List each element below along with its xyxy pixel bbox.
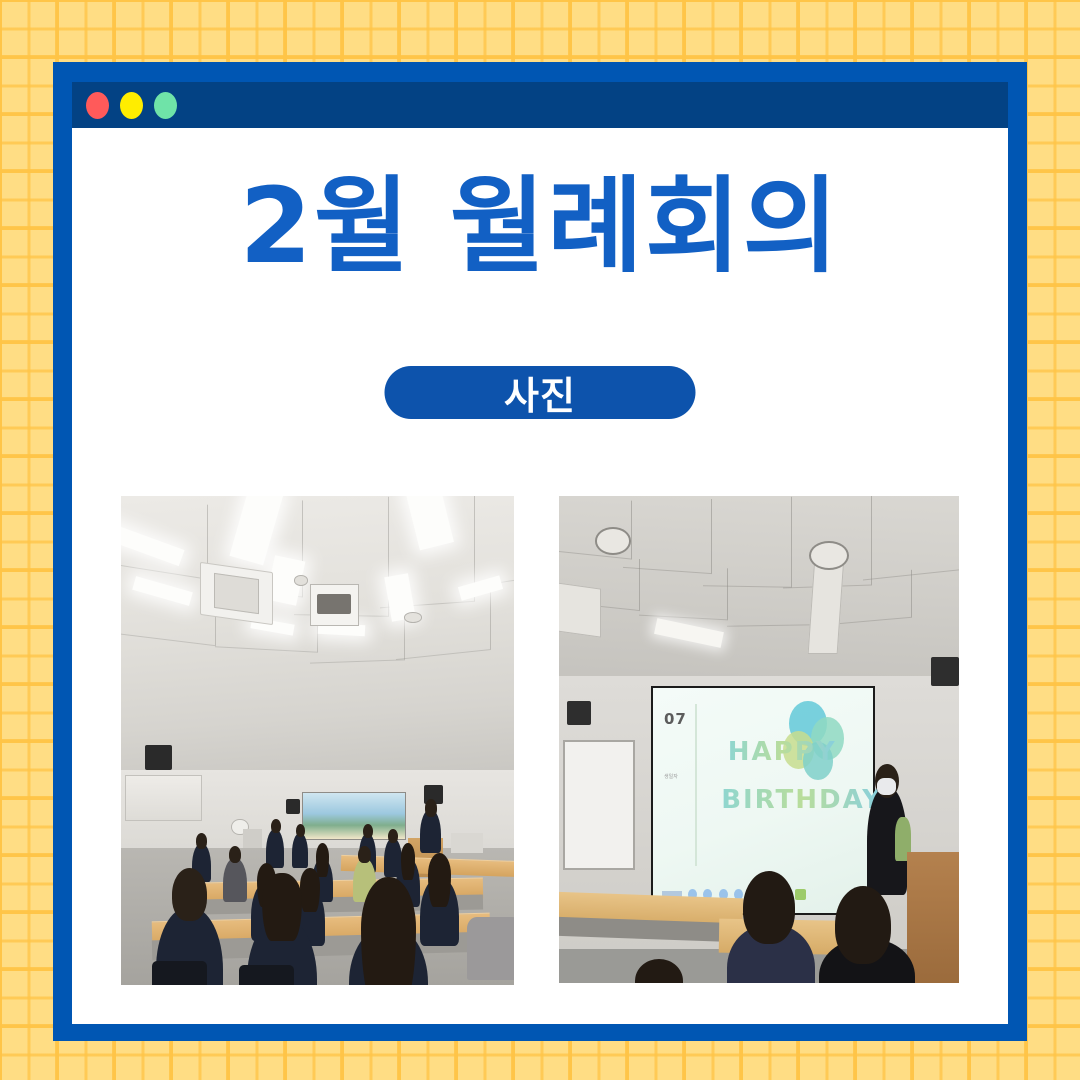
ceiling-tile: [727, 577, 816, 626]
slide-line-2: BIRTHDAY: [721, 785, 883, 815]
window-titlebar: [72, 82, 1008, 128]
ceiling: [559, 496, 959, 691]
attendee-head: [388, 829, 398, 844]
wall-speaker: [931, 657, 959, 686]
photo-happy-birthday-slide[interactable]: 07 생일자 HAPPY BIRTHDAY: [559, 496, 959, 983]
wall-speaker: [567, 701, 591, 725]
attendee-head: [262, 873, 301, 941]
attendee: [223, 858, 247, 902]
wooden-panel: [907, 852, 959, 983]
attendee-head: [172, 868, 207, 922]
ceiling-air-conditioner: [559, 579, 601, 637]
status-badge[interactable]: 사진: [385, 366, 696, 419]
ceiling-tile: [863, 496, 959, 580]
window-content: 2월 월례회의 사진: [72, 128, 1008, 1024]
whiteboard: [563, 740, 635, 871]
face-mask: [877, 778, 895, 795]
smoke-detector-icon: [294, 575, 308, 586]
maximize-button-icon[interactable]: [154, 92, 177, 119]
window-inner: 2월 월례회의 사진: [72, 82, 1008, 1024]
attendee-head: [296, 824, 305, 838]
smoke-detector-icon: [404, 612, 422, 623]
photo-gallery: 07 생일자 HAPPY BIRTHDAY: [72, 496, 1008, 985]
attendee-head: [316, 843, 329, 877]
photo-monthly-meeting-audience[interactable]: [121, 496, 514, 985]
window-blind: [125, 775, 202, 821]
slide-subtitle: 생일자: [664, 773, 678, 780]
wall-speaker: [286, 799, 300, 814]
ceiling-duct: [808, 558, 845, 654]
attendee-head: [361, 877, 416, 985]
ceiling-tile: [459, 496, 514, 590]
ceiling-dome-fixture: [595, 527, 631, 554]
slide-divider: [695, 704, 697, 866]
attendee-head: [300, 868, 320, 912]
attendee-head: [428, 853, 452, 907]
laptop: [451, 833, 482, 853]
attendee-head: [229, 846, 242, 864]
ceiling-air-conditioner: [200, 562, 273, 625]
coat-on-chair: [467, 917, 514, 981]
close-button-icon[interactable]: [86, 92, 109, 119]
ceiling-vent-icon: [809, 541, 849, 570]
ceiling: [121, 496, 514, 780]
attendee: [292, 833, 308, 867]
chair: [239, 965, 294, 985]
attendee-head: [743, 871, 795, 944]
attendee-head: [358, 846, 371, 864]
slide-number: 07: [664, 710, 687, 728]
ceiling-light: [654, 618, 724, 647]
attendee-head: [363, 824, 373, 839]
air-conditioner-vent: [213, 573, 258, 614]
projector-body: [317, 594, 351, 614]
ceiling-tile: [639, 564, 728, 620]
presenter-head: [425, 799, 437, 817]
browser-window-frame: 2월 월례회의 사진: [53, 62, 1027, 1041]
attendee-head: [196, 833, 207, 849]
slide-logo-mark: [795, 889, 806, 900]
minimize-button-icon[interactable]: [120, 92, 143, 119]
attendee-head: [635, 959, 683, 983]
wall-speaker: [145, 745, 173, 769]
attendee-head: [401, 843, 415, 880]
attendee-head: [835, 886, 891, 964]
attendee-head: [271, 819, 281, 834]
ceiling-projector: [310, 584, 359, 626]
page-title: 2월 월례회의: [72, 172, 1008, 281]
slide-line-1: HAPPY: [728, 737, 837, 767]
chair: [152, 961, 207, 985]
